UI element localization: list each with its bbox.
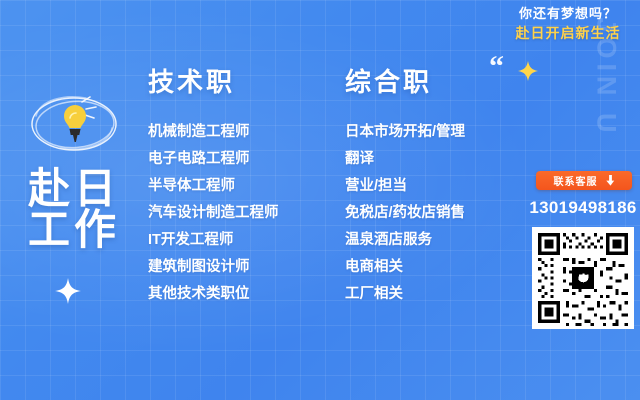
list-item: 电商相关 [345,260,465,275]
brand-title-line-1: 赴日 [28,168,120,209]
list-item: 半导体工程师 [148,179,279,194]
brand-title: 赴日 工作 [28,168,120,250]
list-item: 其他技术类职位 [148,287,279,302]
list-item: 建筑制图设计师 [148,260,279,275]
column-general-title: 综合职 [345,62,465,99]
quote-mark-icon: “ [489,52,505,82]
slogan-line-2: 赴日开启新生活 [504,23,632,44]
list-item: 机械制造工程师 [148,125,279,140]
slogan-line-1: 你还有梦想吗？ [504,5,632,23]
list-item: 营业/担当 [345,179,465,194]
contact-phone-number: 13019498186 [528,198,638,218]
column-technical-title: 技术职 [148,62,279,99]
list-item: 温泉酒店服务 [345,233,465,248]
contact-support-button-label: 联系客服 [554,173,598,188]
list-item: 翻译 [345,152,465,167]
column-general: 综合职 日本市场开拓/管理 翻译 营业/担当 免税店/药妆店销售 温泉酒店服务 … [345,62,465,314]
list-item: 工厂相关 [345,287,465,302]
list-item: IT开发工程师 [148,233,279,248]
list-item: 电子电路工程师 [148,152,279,167]
column-technical: 技术职 机械制造工程师 电子电路工程师 半导体工程师 汽车设计制造工程师 IT开… [148,62,279,314]
slogan-block: 你还有梦想吗？ 赴日开启新生活 [504,5,632,44]
sparkle-star-white-icon [55,278,81,304]
sparkle-star-yellow-icon [518,61,538,81]
arrow-down-icon [606,175,615,186]
qr-code[interactable] [532,227,634,329]
brand-title-line-2: 工作 [28,209,120,250]
list-item: 汽车设计制造工程师 [148,206,279,221]
list-item: 免税店/药妆店销售 [345,206,465,221]
column-general-job-list: 日本市场开拓/管理 翻译 营业/担当 免税店/药妆店销售 温泉酒店服务 电商相关… [345,125,465,302]
contact-support-button[interactable]: 联系客服 [536,171,632,190]
poster-canvas: JOIN U 你还有梦想吗？ 赴日开启新生活 “ [0,0,640,400]
list-item: 日本市场开拓/管理 [345,125,465,140]
lightbulb-illustration [24,86,124,162]
column-technical-job-list: 机械制造工程师 电子电路工程师 半导体工程师 汽车设计制造工程师 IT开发工程师… [148,125,279,302]
